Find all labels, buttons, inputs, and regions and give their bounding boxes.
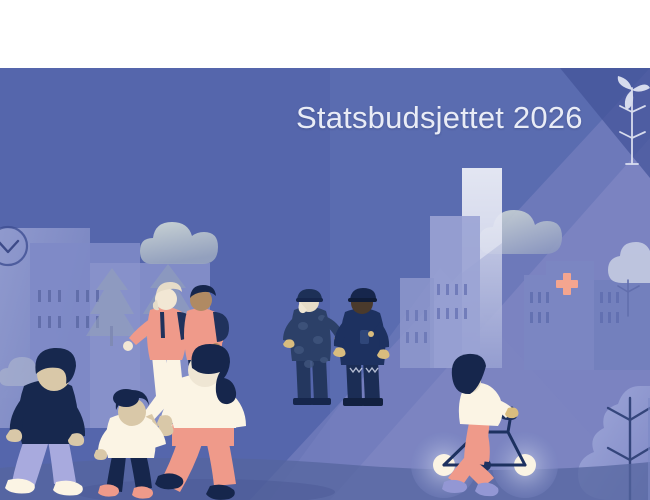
page-root: Statsbudsjettet 2026 [0,0,650,500]
top-white-band [0,0,650,68]
page-title: Statsbudsjettet 2026 [296,100,583,136]
tower-small [400,278,434,368]
